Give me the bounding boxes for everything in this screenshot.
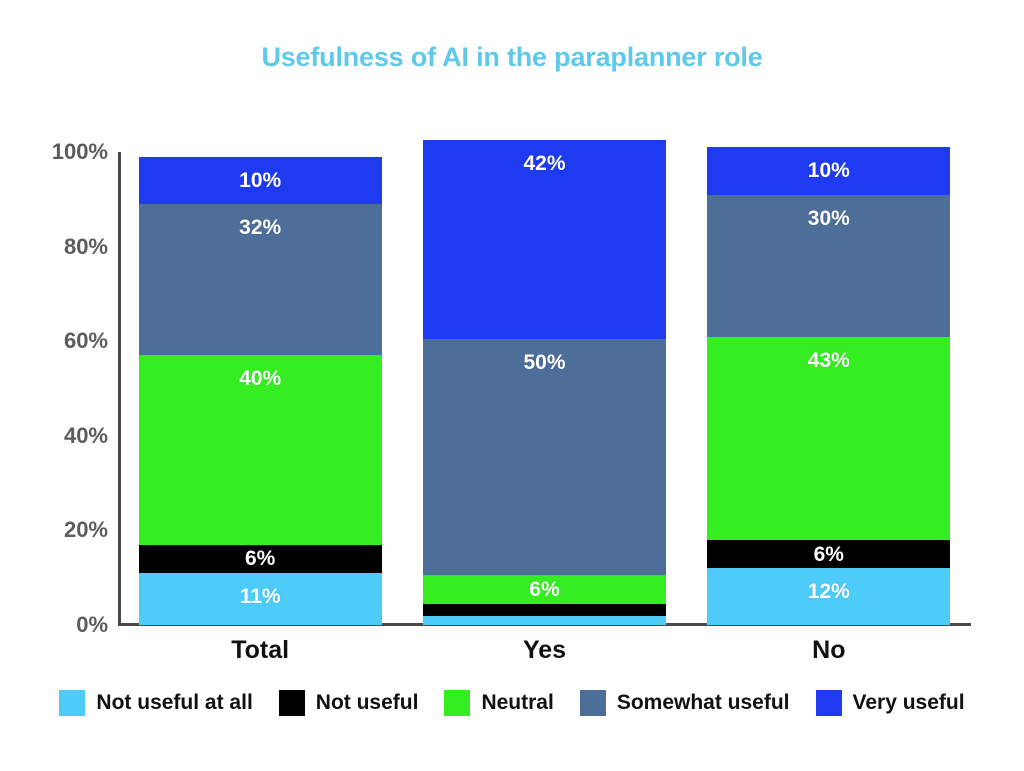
legend-label: Not useful xyxy=(316,691,419,715)
x-axis-category-yes: Yes xyxy=(402,636,686,665)
bar-segment-value-label: 43% xyxy=(808,337,850,371)
bar-segment-total-not-useful-at-all[interactable]: 11% xyxy=(139,573,382,625)
bar-segment-no-not-useful-at-all[interactable]: 12% xyxy=(707,568,950,625)
bar-segment-no-somewhat-useful[interactable]: 30% xyxy=(707,195,950,337)
plot-area: 10%32%40%6%11%Total42%50%6%Yes10%30%43%6… xyxy=(118,152,970,625)
page-title: Usefulness of AI in the paraplanner role xyxy=(0,42,1024,73)
bar-segment-total-neutral[interactable]: 40% xyxy=(139,355,382,544)
bar-group-yes: 42%50%6%Yes xyxy=(402,152,686,625)
legend-swatch-icon xyxy=(59,690,85,716)
legend-swatch-icon xyxy=(279,690,305,716)
y-axis-tick-20pct: 20% xyxy=(8,517,108,543)
legend-swatch-icon xyxy=(816,690,842,716)
chart-legend: Not useful at allNot usefulNeutralSomewh… xyxy=(0,690,1024,716)
legend-swatch-icon xyxy=(580,690,606,716)
bar-segment-value-label: 10% xyxy=(808,147,850,181)
bar-segment-no-very-useful[interactable]: 10% xyxy=(707,147,950,194)
legend-label: Very useful xyxy=(853,691,965,715)
bar-segment-value-label: 12% xyxy=(808,568,850,602)
legend-item-somewhat-useful[interactable]: Somewhat useful xyxy=(580,690,790,716)
legend-item-not-useful[interactable]: Not useful xyxy=(279,690,419,716)
bar-segment-no-not-useful[interactable]: 6% xyxy=(707,540,950,568)
bar-segment-yes-neutral[interactable]: 6% xyxy=(423,575,666,603)
y-axis-tick-60pct: 60% xyxy=(8,328,108,354)
bar-segment-total-not-useful[interactable]: 6% xyxy=(139,545,382,573)
legend-label: Neutral xyxy=(481,691,553,715)
bar-segment-value-label: 6% xyxy=(814,540,844,565)
legend-label: Somewhat useful xyxy=(617,691,790,715)
legend-swatch-icon xyxy=(444,690,470,716)
bar-segment-value-label: 11% xyxy=(240,573,281,607)
stacked-bar-total[interactable]: 10%32%40%6%11% xyxy=(139,157,382,625)
stacked-bar-yes[interactable]: 42%50%6% xyxy=(423,140,666,625)
bar-segment-value-label: 10% xyxy=(239,157,281,191)
bar-segment-value-label: 32% xyxy=(239,204,281,238)
legend-item-not-useful-at-all[interactable]: Not useful at all xyxy=(59,690,252,716)
bar-segment-value-label: 30% xyxy=(808,195,850,229)
bar-segment-total-very-useful[interactable]: 10% xyxy=(139,157,382,204)
x-axis-category-total: Total xyxy=(118,636,402,665)
bar-segment-value-label: 6% xyxy=(245,545,275,570)
bar-segment-yes-not-useful-at-all[interactable] xyxy=(423,616,666,625)
bar-segment-total-somewhat-useful[interactable]: 32% xyxy=(139,204,382,355)
y-axis-tick-100pct: 100% xyxy=(8,139,108,165)
legend-item-very-useful[interactable]: Very useful xyxy=(816,690,965,716)
bar-segment-yes-very-useful[interactable]: 42% xyxy=(423,140,666,339)
y-axis-tick-80pct: 80% xyxy=(8,234,108,260)
bar-segment-yes-not-useful[interactable] xyxy=(423,604,666,616)
bar-segment-no-neutral[interactable]: 43% xyxy=(707,337,950,540)
stacked-bar-no[interactable]: 10%30%43%6%12% xyxy=(707,147,950,625)
y-axis-tick-labels: 0%20%40%60%80%100% xyxy=(0,0,108,771)
x-axis-category-no: No xyxy=(687,636,971,665)
bar-group-no: 10%30%43%6%12%No xyxy=(687,152,971,625)
bar-segment-yes-somewhat-useful[interactable]: 50% xyxy=(423,339,666,576)
bar-segment-value-label: 42% xyxy=(523,140,565,174)
y-axis-tick-0pct: 0% xyxy=(8,612,108,638)
bar-segment-value-label: 6% xyxy=(529,575,559,600)
y-axis-tick-40pct: 40% xyxy=(8,423,108,449)
legend-label: Not useful at all xyxy=(96,691,252,715)
bar-group-total: 10%32%40%6%11%Total xyxy=(118,152,402,625)
legend-item-neutral[interactable]: Neutral xyxy=(444,690,553,716)
bar-segment-value-label: 50% xyxy=(523,339,565,373)
bar-segment-value-label: 40% xyxy=(239,355,281,389)
